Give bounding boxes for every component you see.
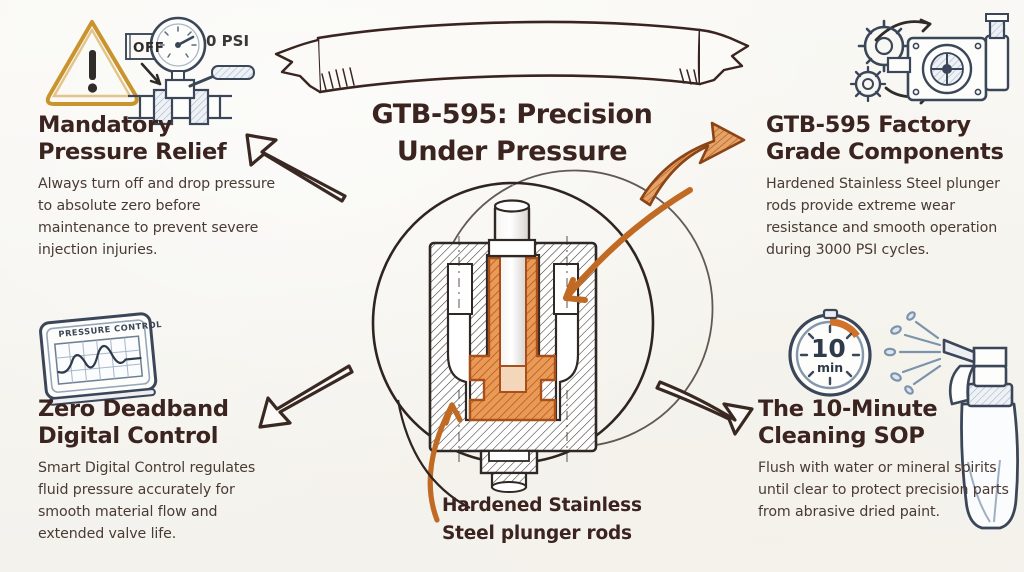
title-line-2: Under Pressure [397,136,627,167]
section-body: Hardened Stainless Steel plunger rods pr… [766,173,1018,261]
section-ten-minute-cleaning-sop: The 10-Minute Cleaning SOP Flush with wa… [758,396,1016,523]
infographic-poster: GTB-595: Precision Under Pressure Mandat… [0,0,1024,572]
off-label-text: OFF [133,40,164,56]
plunger-rod-cross-section-diagram [430,201,596,493]
stopwatch-number-text: 10 [811,334,846,363]
heading-line-1: Zero Deadband [38,396,229,422]
heading-line-1: Mandatory [38,112,172,138]
stopwatch-unit-text: min [817,360,843,375]
heading-line-2: Cleaning SOP [758,423,925,449]
water-spray-icon [885,311,940,395]
section-body: Flush with water or mineral spirits unti… [758,457,1016,523]
pump-housing-icon [888,14,1008,100]
page-title: GTB-595: Precision Under Pressure [302,96,722,170]
callout-line-2: Steel plunger rods [442,523,632,544]
section-heading: The 10-Minute Cleaning SOP [758,396,1016,450]
ribbon-banner [276,22,748,92]
section-body: Smart Digital Control regulates fluid pr… [38,457,286,545]
section-body: Always turn off and drop pressure to abs… [38,173,288,261]
heading-line-1: GTB-595 Factory [766,112,971,138]
heading-line-2: Pressure Relief [38,139,226,165]
section-factory-grade-components: GTB-595 Factory Grade Components Hardene… [766,112,1018,261]
off-to-valve-arrow-icon [142,64,160,84]
title-line-1: GTB-595: Precision [371,99,652,130]
heading-line-2: Grade Components [766,139,1004,165]
section-heading: GTB-595 Factory Grade Components [766,112,1018,166]
section-heading: Mandatory Pressure Relief [38,112,288,166]
callout-line-1: Hardened Stainless [442,495,642,516]
warning-triangle-icon [48,22,137,104]
heading-line-1: The 10-Minute [758,396,937,422]
gauge-reading-text: 0 PSI [206,32,249,50]
section-zero-deadband-digital-control: Zero Deadband Digital Control Smart Digi… [38,396,286,545]
section-heading: Zero Deadband Digital Control [38,396,286,450]
center-diagram-callout-label: Hardened Stainless Steel plunger rods [442,492,742,548]
heading-line-2: Digital Control [38,423,218,449]
section-mandatory-pressure-relief: Mandatory Pressure Relief Always turn of… [38,112,288,261]
